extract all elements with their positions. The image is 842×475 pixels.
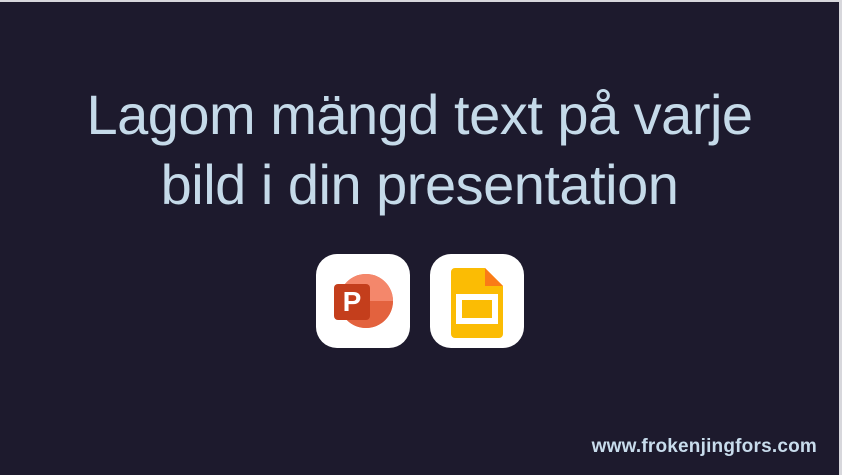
- google-slides-icon: [445, 264, 509, 338]
- powerpoint-icon: P: [326, 264, 400, 338]
- app-tile-google-slides: [430, 254, 524, 348]
- app-tile-powerpoint: P: [316, 254, 410, 348]
- app-icon-row: P: [0, 254, 839, 348]
- svg-text:P: P: [342, 286, 361, 317]
- page-title: Lagom mängd text på varje bild i din pre…: [0, 80, 839, 220]
- presentation-slide: Lagom mängd text på varje bild i din pre…: [0, 0, 842, 475]
- site-url: www.frokenjingfors.com: [592, 436, 817, 458]
